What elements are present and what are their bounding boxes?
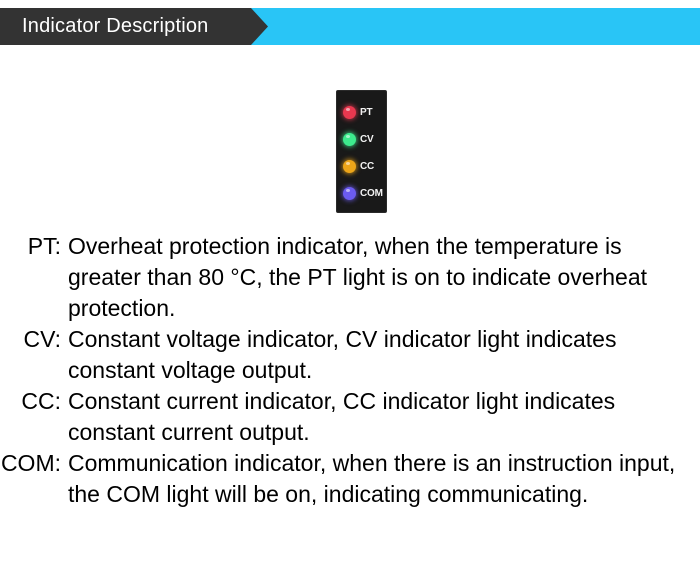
indicator-description-list: PT: Overheat protection indicator, when … <box>0 231 700 510</box>
pt-led-icon <box>343 106 356 119</box>
cc-led-label: CC <box>360 161 374 172</box>
cv-led-icon <box>343 133 356 146</box>
description-item-pt: PT: Overheat protection indicator, when … <box>0 231 700 324</box>
description-text-cc: Constant current indicator, CC indicator… <box>68 386 700 448</box>
led-row-pt: PT <box>337 99 372 126</box>
page-title: Indicator Description <box>22 8 209 45</box>
description-term-pt: PT: <box>0 231 68 262</box>
led-row-cv: CV <box>337 126 374 153</box>
led-row-com: COM <box>337 180 383 207</box>
description-term-cc: CC: <box>0 386 68 417</box>
cv-led-label: CV <box>360 134 374 145</box>
description-item-cv: CV: Constant voltage indicator, CV indic… <box>0 324 700 386</box>
description-term-cv: CV: <box>0 324 68 355</box>
com-led-label: COM <box>360 188 383 199</box>
header-banner: Indicator Description <box>0 8 700 45</box>
description-item-cc: CC: Constant current indicator, CC indic… <box>0 386 700 448</box>
led-row-cc: CC <box>337 153 374 180</box>
description-text-pt: Overheat protection indicator, when the … <box>68 231 700 324</box>
description-term-com: COM: <box>0 448 68 479</box>
description-text-cv: Constant voltage indicator, CV indicator… <box>68 324 700 386</box>
description-item-com: COM: Communication indicator, when there… <box>0 448 700 510</box>
com-led-icon <box>343 187 356 200</box>
indicator-panel-figure: PT CV CC COM <box>336 90 387 213</box>
description-text-com: Communication indicator, when there is a… <box>68 448 700 510</box>
led-indicator-panel: PT CV CC COM <box>336 90 387 213</box>
pt-led-label: PT <box>360 107 372 118</box>
cc-led-icon <box>343 160 356 173</box>
